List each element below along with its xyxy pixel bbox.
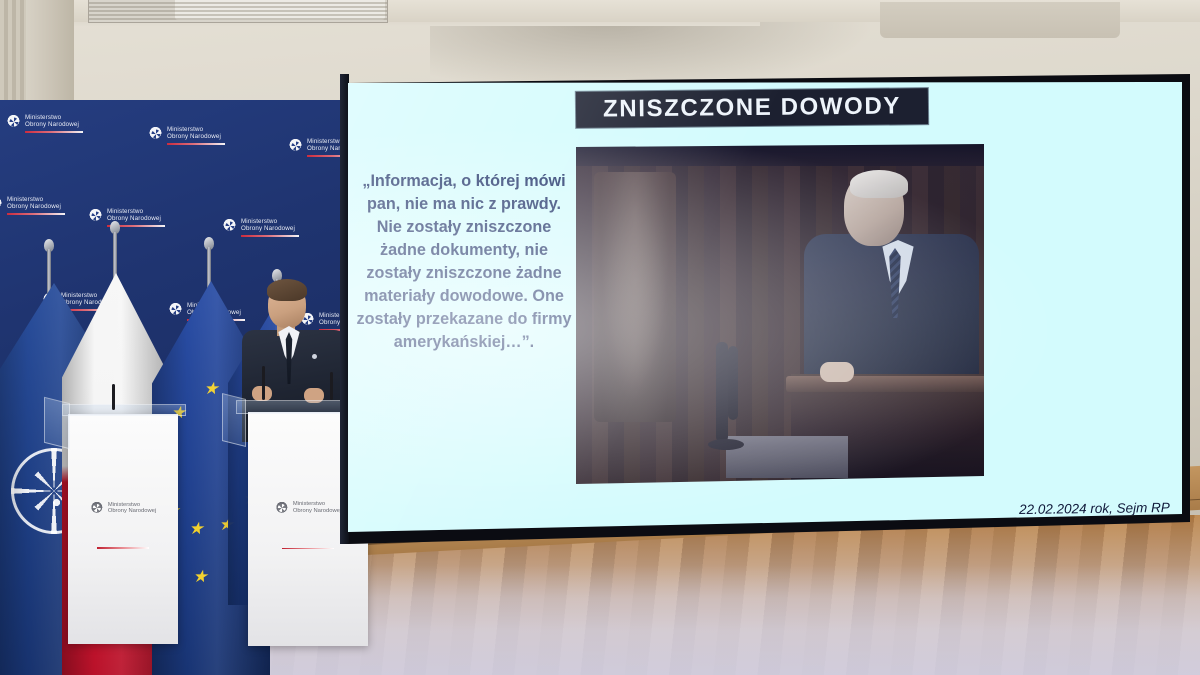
photo-color-tint (576, 144, 984, 484)
podium-left: MinisterstwoObrony Narodowej (68, 414, 178, 644)
polish-eagle-icon (0, 196, 3, 211)
mon-logo: MinisterstwoObrony Narodowej (222, 218, 295, 233)
podium-left-microphone-icon (112, 384, 115, 410)
mon-logo-line2: Obrony Narodowej (167, 134, 221, 141)
podium-logo-line1: Ministerstwo (293, 501, 341, 508)
podium-logo-line2: Obrony Narodowej (293, 508, 341, 515)
slide-photo (576, 144, 984, 484)
slide-title-banner: ZNISZCZONE DOWODY (576, 88, 928, 128)
podium-left-glass-side (44, 397, 70, 449)
mon-logo: MinisterstwoObrony Narodowej (0, 196, 61, 211)
ceiling-vent-grille-icon (175, 0, 385, 20)
mon-logo-line2: Obrony Narodowej (25, 122, 79, 129)
mon-logo: MinisterstwoObrony Narodowej (6, 114, 79, 129)
mon-logo-rule (7, 213, 65, 215)
podium-logo-rule (282, 548, 334, 549)
polish-eagle-icon (222, 218, 237, 233)
polish-eagle-icon (148, 126, 163, 141)
polish-eagle-icon (288, 138, 303, 153)
polish-eagle-icon (275, 501, 289, 515)
podium-left-glass-top (62, 404, 186, 416)
speaker-lapel-pin-icon (312, 354, 317, 359)
slide-title: ZNISZCZONE DOWODY (603, 92, 901, 123)
mon-logo-line2: Obrony Narodowej (7, 204, 61, 211)
podium-logo-line2: Obrony Narodowej (108, 508, 156, 515)
podium-right-glass-side (222, 393, 246, 447)
mon-logo: MinisterstwoObrony Narodowej (88, 208, 161, 223)
mon-logo-line2: Obrony Narodowej (241, 226, 295, 233)
polish-eagle-icon (6, 114, 21, 129)
podium-right-microphone-icon (262, 366, 265, 400)
projection-screen-bezel (340, 74, 349, 544)
podium-logo-rule (97, 547, 149, 548)
polish-eagle-icon (88, 208, 103, 223)
mon-logo-rule (241, 235, 299, 237)
speaker-hair (267, 279, 307, 301)
slide-quote: „Informacja, o której mówi pan, nie ma n… (356, 170, 572, 354)
polish-eagle-icon (90, 501, 104, 515)
screenshot-stage: MinisterstwoObrony Narodowej Ministerstw… (0, 0, 1200, 675)
podium-logo-line1: Ministerstwo (108, 502, 156, 509)
slide-caption: 22.02.2024 rok, Sejm RP (1019, 500, 1170, 517)
podium-logo: MinisterstwoObrony Narodowej (90, 501, 156, 515)
mon-logo-rule (167, 143, 225, 145)
projection-screen: ZNISZCZONE DOWODY „Informacja, o której … (348, 82, 1182, 532)
wall-panel (880, 2, 1120, 38)
mon-logo: MinisterstwoObrony Narodowej (148, 126, 221, 141)
mon-logo-rule (25, 131, 83, 133)
podium-logo: MinisterstwoObrony Narodowej (275, 501, 341, 515)
podium-right-microphone-icon (330, 372, 333, 400)
